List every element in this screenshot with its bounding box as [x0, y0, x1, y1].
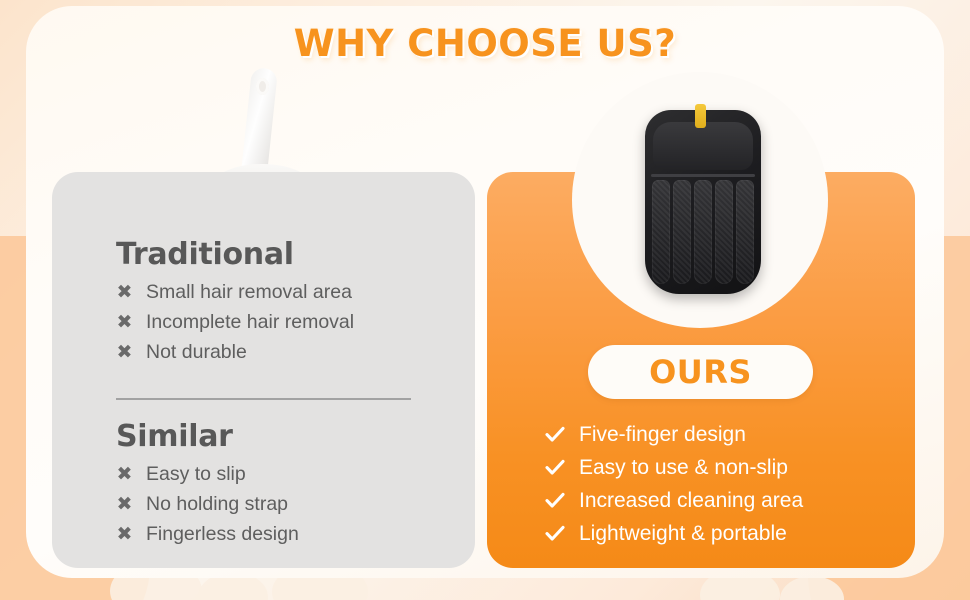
mitt-finger: [736, 180, 754, 284]
ours-pro-list: Five-finger design Easy to use & non-sli…: [545, 418, 803, 550]
traditional-con-list: ✖ Small hair removal area ✖ Incomplete h…: [116, 277, 455, 367]
mitt-finger: [673, 180, 691, 284]
list-item: ✖ Incomplete hair removal: [116, 307, 455, 337]
mitt-top-panel: [653, 122, 753, 170]
check-mark-icon: [545, 426, 565, 443]
ours-badge-label: OURS: [649, 353, 752, 391]
x-mark-icon: ✖: [116, 281, 133, 303]
list-item-label: Incomplete hair removal: [146, 311, 354, 334]
list-item-label: Easy to slip: [146, 463, 246, 486]
list-item-label: Lightweight & portable: [579, 522, 787, 546]
ours-badge: OURS: [588, 345, 813, 399]
list-item: ✖ Fingerless design: [116, 519, 455, 549]
list-item: Lightweight & portable: [545, 517, 803, 550]
list-item: ✖ Easy to slip: [116, 459, 455, 489]
similar-con-list: ✖ Easy to slip ✖ No holding strap ✖ Fing…: [116, 459, 455, 549]
check-mark-icon: [545, 492, 565, 509]
list-item: Five-finger design: [545, 418, 803, 451]
list-item-label: No holding strap: [146, 493, 288, 516]
mitt-finger-group: [652, 180, 754, 284]
list-item: Increased cleaning area: [545, 484, 803, 517]
list-item-label: Not durable: [146, 341, 247, 364]
list-item-label: Increased cleaning area: [579, 489, 803, 513]
similar-heading: Similar: [116, 420, 455, 453]
mitt-finger: [694, 180, 712, 284]
list-item-label: Small hair removal area: [146, 281, 352, 304]
x-mark-icon: ✖: [116, 493, 133, 515]
traditional-heading: Traditional: [116, 238, 455, 271]
mitt-yellow-tab: [695, 104, 706, 128]
list-item: ✖ No holding strap: [116, 489, 455, 519]
section-divider: [116, 398, 411, 400]
list-item: ✖ Not durable: [116, 337, 455, 367]
roller-hanging-hole: [256, 78, 269, 95]
x-mark-icon: ✖: [116, 523, 133, 545]
infographic-stage: WHY CHOOSE US? Traditional ✖ Small hair …: [0, 0, 970, 600]
list-item: ✖ Small hair removal area: [116, 277, 455, 307]
similar-section: Similar ✖ Easy to slip ✖ No holding stra…: [116, 420, 455, 549]
mitt-finger: [715, 180, 733, 284]
mitt-seam: [651, 174, 755, 177]
list-item-label: Easy to use & non-slip: [579, 456, 788, 480]
list-item: Easy to use & non-slip: [545, 451, 803, 484]
page-title: WHY CHOOSE US?: [0, 22, 970, 65]
five-finger-mesh-grooming-mitt-illustration: [645, 110, 761, 294]
traditional-section: Traditional ✖ Small hair removal area ✖ …: [116, 238, 455, 367]
x-mark-icon: ✖: [116, 311, 133, 333]
list-item-label: Five-finger design: [579, 423, 746, 447]
traditional-comparison-card: Traditional ✖ Small hair removal area ✖ …: [52, 172, 475, 568]
check-mark-icon: [545, 459, 565, 476]
x-mark-icon: ✖: [116, 463, 133, 485]
x-mark-icon: ✖: [116, 341, 133, 363]
check-mark-icon: [545, 525, 565, 542]
mitt-finger: [652, 180, 670, 284]
list-item-label: Fingerless design: [146, 523, 299, 546]
